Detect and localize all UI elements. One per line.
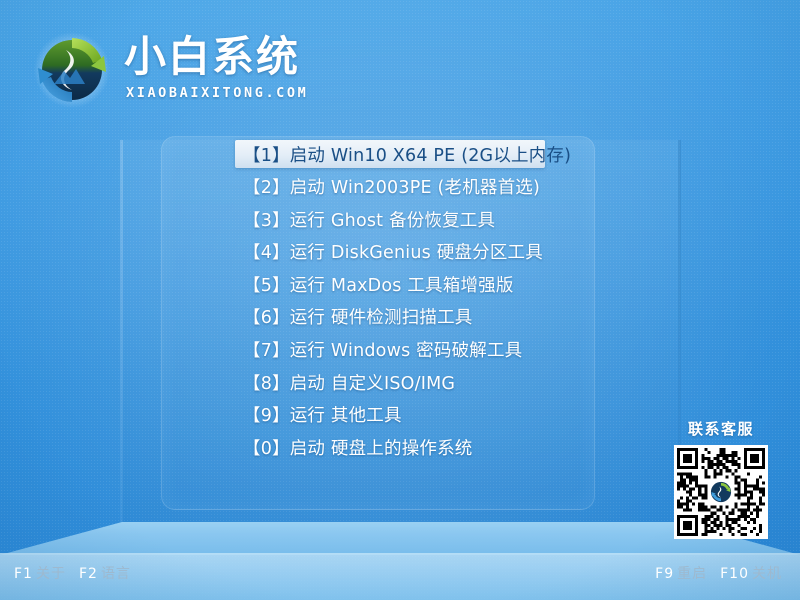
menu-item-label: 启动 硬盘上的操作系统	[290, 435, 473, 460]
brand-logo-icon	[709, 480, 733, 504]
menu-item-label: 启动 Win10 X64 PE (2G以上内存)	[290, 142, 571, 167]
customer-service-title: 联系客服	[672, 418, 770, 439]
boot-menu-list[interactable]: 【1】启动 Win10 X64 PE (2G以上内存)【2】启动 Win2003…	[180, 140, 580, 466]
menu-item-key: 【6】	[243, 304, 290, 329]
customer-service-block: 联系客服	[672, 418, 770, 539]
menu-item-key: 【4】	[243, 239, 290, 264]
menu-item-key: 【7】	[243, 337, 290, 362]
menu-item-label: 运行 硬件检测扫描工具	[290, 304, 473, 329]
menu-item-label: 运行 Windows 密码破解工具	[290, 337, 523, 362]
menu-item-5[interactable]: 【5】运行 MaxDos 工具箱增强版	[180, 270, 580, 298]
menu-item-3[interactable]: 【3】运行 Ghost 备份恢复工具	[180, 205, 580, 233]
menu-item-label: 运行 其他工具	[290, 402, 402, 427]
menu-item-key: 【0】	[243, 435, 290, 460]
brand-logo: 小白系统 XIAOBAIXITONG.COM	[32, 28, 282, 112]
brand-name-en: XIAOBAIXITONG.COM	[126, 85, 308, 101]
statusbar-right-label-f9[interactable]: 重启	[677, 566, 707, 582]
menu-item-key: 【9】	[243, 402, 290, 427]
menu-item-key: 【8】	[243, 370, 290, 395]
boot-menu-screen: 小白系统 XIAOBAIXITONG.COM 【1】启动 Win10 X64 P…	[0, 0, 800, 600]
menu-item-4[interactable]: 【4】运行 DiskGenius 硬盘分区工具	[180, 238, 580, 266]
menu-item-7[interactable]: 【7】运行 Windows 密码破解工具	[180, 336, 580, 364]
statusbar-left-key-f2[interactable]: F2	[79, 566, 98, 582]
menu-item-1[interactable]: 【1】启动 Win10 X64 PE (2G以上内存)	[235, 140, 545, 168]
menu-item-label: 运行 MaxDos 工具箱增强版	[290, 272, 514, 297]
statusbar-left-label-f1[interactable]: 关于	[36, 566, 66, 582]
statusbar-right-key-f10[interactable]: F10	[720, 566, 749, 582]
statusbar-right-label-f10[interactable]: 关机	[752, 566, 782, 582]
statusbar-right-key-f9[interactable]: F9	[655, 566, 674, 582]
menu-item-key: 【2】	[243, 174, 290, 199]
menu-item-key: 【5】	[243, 272, 290, 297]
menu-item-2[interactable]: 【2】启动 Win2003PE (老机器首选)	[180, 173, 580, 201]
menu-item-label: 启动 自定义ISO/IMG	[290, 370, 455, 395]
statusbar-left: F1关于F2语言	[14, 563, 131, 583]
menu-item-6[interactable]: 【6】运行 硬件检测扫描工具	[180, 303, 580, 331]
menu-item-label: 运行 Ghost 备份恢复工具	[290, 207, 495, 232]
menu-item-key: 【3】	[243, 207, 290, 232]
statusbar-left-key-f1[interactable]: F1	[14, 566, 33, 582]
menu-item-8[interactable]: 【8】启动 自定义ISO/IMG	[180, 368, 580, 396]
statusbar-left-label-f2[interactable]: 语言	[101, 566, 131, 582]
menu-item-key: 【1】	[243, 142, 290, 167]
brand-name-cn: 小白系统	[124, 32, 300, 82]
menu-item-label: 运行 DiskGenius 硬盘分区工具	[290, 239, 543, 264]
menu-item-10[interactable]: 【0】启动 硬盘上的操作系统	[180, 433, 580, 461]
recycle-arrows-circle-icon	[32, 30, 112, 110]
qr-code-icon[interactable]	[674, 445, 768, 539]
menu-item-9[interactable]: 【9】运行 其他工具	[180, 401, 580, 429]
statusbar-right: F9重启F10关机	[655, 563, 782, 583]
menu-item-label: 启动 Win2003PE (老机器首选)	[290, 174, 540, 199]
